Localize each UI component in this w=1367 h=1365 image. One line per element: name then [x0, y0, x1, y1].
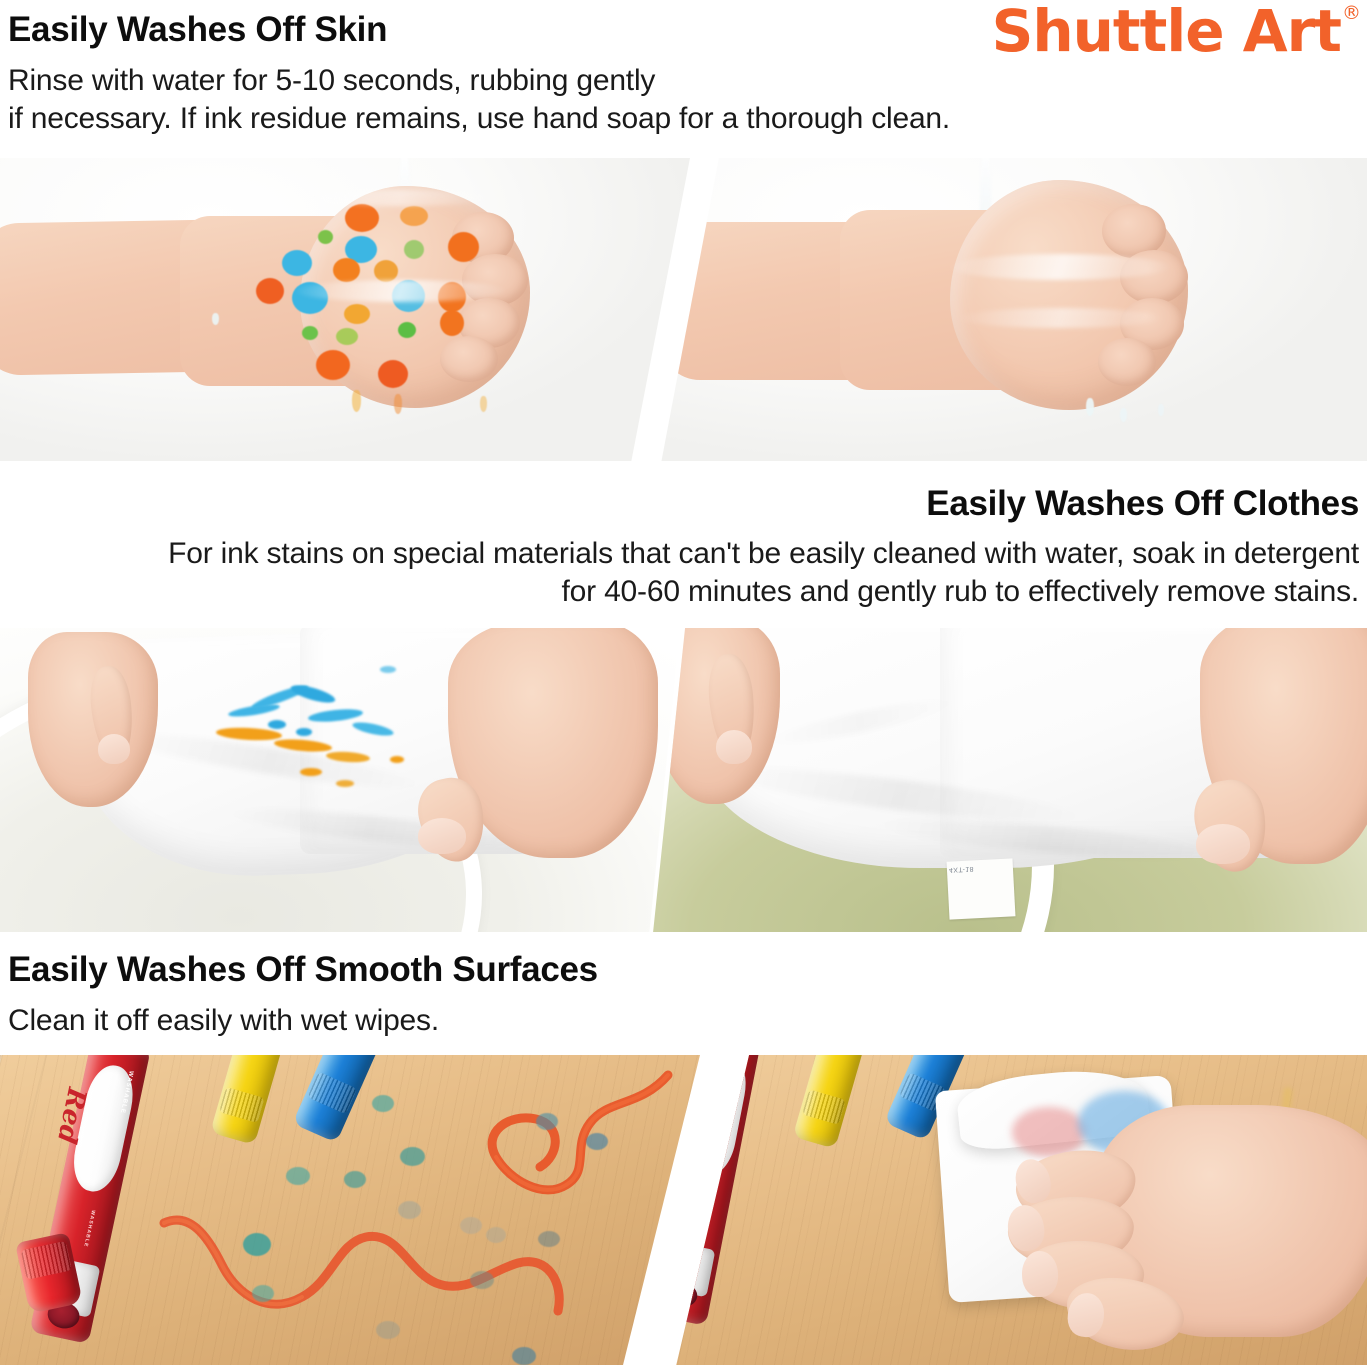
photo-row-clothes: 4XT-18 — [0, 628, 1367, 932]
photo-clean-hand — [650, 158, 1367, 461]
section-body-skin-line-1: Rinse with water for 5-10 seconds, rubbi… — [8, 62, 655, 100]
section-heading-skin: Easily Washes Off Skin — [8, 12, 387, 48]
photo-marked-desk: Red WASHABLE WASHABLE — [0, 1055, 700, 1365]
shirt-care-label: 4XT-18 — [947, 858, 1016, 919]
section-body-surfaces-line-1: Clean it off easily with wet wipes. — [8, 1002, 439, 1040]
section-heading-clothes: Easily Washes Off Clothes — [926, 486, 1359, 522]
photo-wiped-desk: Red WASHABLE WASHABLE — [660, 1055, 1367, 1365]
wipe-stain-red — [1012, 1107, 1086, 1157]
brand-logo-text: Shuttle Art — [992, 2, 1341, 60]
photo-clean-shirt: 4XT-18 — [640, 628, 1367, 932]
marketing-infographic: Easily Washes Off Skin Rinse with water … — [0, 0, 1367, 1365]
section-body-clothes-line-2: for 40-60 minutes and gently rub to effe… — [562, 573, 1359, 611]
registered-trademark-icon: ® — [1342, 4, 1361, 23]
photo-inked-hand — [0, 158, 690, 461]
brand-logo: Shuttle Art ® — [992, 2, 1361, 60]
section-heading-surfaces: Easily Washes Off Smooth Surfaces — [8, 952, 598, 988]
care-label-code: 4XT-18 — [949, 860, 1011, 874]
photo-row-skin — [0, 158, 1367, 461]
section-body-skin-line-2: if necessary. If ink residue remains, us… — [8, 100, 950, 138]
photo-stained-shirt — [0, 628, 680, 932]
section-body-clothes-line-1: For ink stains on special materials that… — [168, 535, 1359, 573]
photo-row-surfaces: Red WASHABLE WASHABLE — [0, 1055, 1367, 1365]
